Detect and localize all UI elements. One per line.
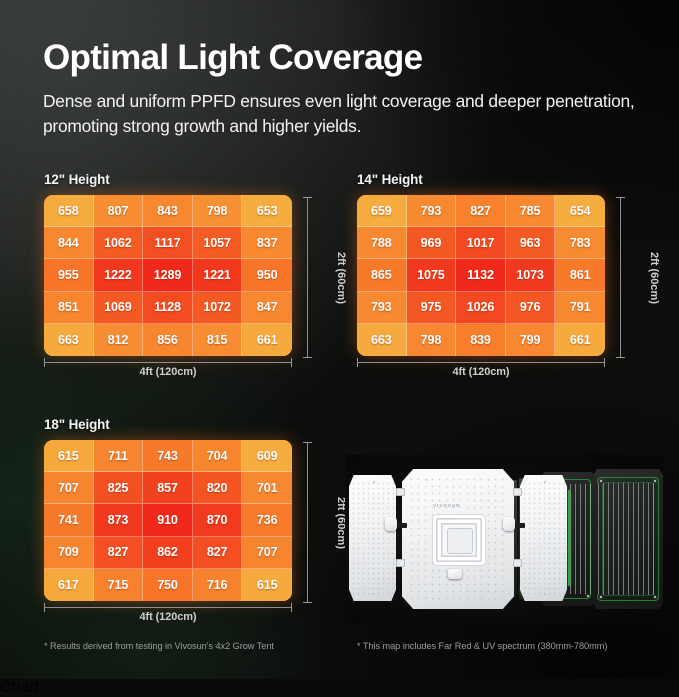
heatmap-cell: 870: [193, 504, 243, 536]
heatmap-cell: 975: [407, 292, 457, 324]
heatmap-cell: 615: [242, 569, 292, 601]
heatmap-cell: 1289: [143, 259, 193, 291]
height-dimension-18in: 2ft (60cm): [303, 442, 313, 603]
heatmap-cell-value: 976: [520, 300, 541, 314]
heatmap-cell-value: 653: [257, 204, 278, 218]
heatmap-cell: 815: [193, 324, 243, 356]
heatmap-grid-18in: 6157117437046097078258578207017418739108…: [44, 440, 292, 601]
product-knob-right: [503, 517, 515, 531]
heatmap-block-14in: 14" Height 65979382778565478896910179637…: [357, 172, 605, 356]
product-knob-left: [385, 517, 397, 531]
heatmap-cell: 851: [44, 292, 94, 324]
heatmap-cell-value: 798: [421, 333, 442, 347]
heatmap-cell: 743: [143, 440, 193, 472]
heatmap-cell: 707: [44, 472, 94, 504]
heatmap-cell: 856: [143, 324, 193, 356]
heatmap-cell-value: 862: [157, 545, 178, 559]
heatmap-label-14in: 14" Height: [357, 172, 605, 187]
heatmap-cell-value: 870: [207, 513, 228, 527]
heatmap-cell: 654: [555, 195, 605, 227]
heatmap-cell: 715: [94, 569, 144, 601]
heatmap-cell-value: 1117: [154, 236, 180, 250]
heatmap-cell-value: 1073: [516, 268, 543, 282]
heatmap-cell: 837: [242, 227, 292, 259]
heatmap-cell: 865: [357, 259, 407, 291]
product-center-led-module: [432, 514, 486, 566]
heatmap-cell-value: 1057: [203, 236, 230, 250]
heatmap-cell: 793: [407, 195, 457, 227]
heatmap-cell-value: 1128: [154, 300, 181, 314]
infographic-canvas: Optimal Light Coverage Dense and uniform…: [0, 0, 679, 679]
heatmap-cell-value: 837: [257, 236, 278, 250]
heatmap-cell-value: 815: [207, 333, 228, 347]
width-dimension-12in: 4ft (120cm): [44, 358, 292, 368]
height-dimension-12in: 2ft (60cm): [303, 197, 313, 358]
heatmap-cell-value: 617: [58, 578, 79, 592]
heatmap-cell-value: 736: [257, 513, 278, 527]
height-dimension-label-14in: 2ft (60cm): [648, 252, 660, 304]
heatmap-cell-value: 827: [470, 204, 491, 218]
heatmap-cell: 847: [242, 292, 292, 324]
product-bracket-tl: [396, 488, 405, 496]
heatmap-cell: 798: [193, 195, 243, 227]
heatmap-cell-value: 969: [421, 236, 442, 250]
heatmap-cell-value: 1072: [203, 300, 230, 314]
heatmap-cell-value: 873: [108, 513, 129, 527]
heatmap-cell-value: 707: [257, 545, 278, 559]
heatmap-cell: 812: [94, 324, 144, 356]
heatmap-cell-value: 1017: [467, 236, 494, 250]
heatmap-cell: 963: [506, 227, 556, 259]
heatmap-cell-value: 910: [157, 513, 178, 527]
heatmap-cell-value: 793: [371, 300, 392, 314]
heatmap-cell-value: 1062: [104, 236, 131, 250]
heatmap-cell-value: 1075: [417, 268, 444, 282]
product-center-connector: [448, 569, 462, 579]
heatmap-cell-value: 825: [108, 481, 129, 495]
heatmap-cell-value: 661: [257, 333, 278, 347]
heatmap-cell-value: 659: [371, 204, 392, 218]
product-bracket-tr: [513, 488, 522, 496]
heatmap-cell: 1075: [407, 259, 457, 291]
heatmap-cell-value: 807: [108, 204, 129, 218]
heatmap-cell: 793: [357, 292, 407, 324]
heatmap-cell-value: 788: [371, 236, 392, 250]
heatmap-cell: 807: [94, 195, 144, 227]
heatmap-cell-value: 1221: [203, 268, 230, 282]
heatmap-cell: 788: [357, 227, 407, 259]
heatmap-cell-value: 750: [157, 578, 178, 592]
heatmap-cell: 1128: [143, 292, 193, 324]
heatmap-cell: 1062: [94, 227, 144, 259]
heatmap-cell: 741: [44, 504, 94, 536]
heatmap-cell: 873: [94, 504, 144, 536]
heatmap-cell: 843: [143, 195, 193, 227]
heatmap-cell-value: 785: [520, 204, 541, 218]
heatmap-cell: 661: [242, 324, 292, 356]
footnote-left: * Results derived from testing in Vivosu…: [44, 641, 274, 651]
heatmap-cell-value: 963: [520, 236, 541, 250]
heatmap-cell: 839: [456, 324, 506, 356]
heatmap-cell: 707: [242, 537, 292, 569]
heatmap-cell: 1017: [456, 227, 506, 259]
heatmap-cell: 1222: [94, 259, 144, 291]
heatmap-cell: 653: [242, 195, 292, 227]
heatmap-cell-value: 798: [207, 204, 228, 218]
heatmap-cell-value: 663: [58, 333, 79, 347]
heatmap-cell-value: 793: [421, 204, 442, 218]
heatmap-cell: 827: [193, 537, 243, 569]
page-title: Optimal Light Coverage: [43, 38, 422, 77]
heatmap-cell: 861: [555, 259, 605, 291]
heatmap-cell: 976: [506, 292, 556, 324]
heatmap-cell: 857: [143, 472, 193, 504]
heatmap-cell-value: 654: [570, 204, 591, 218]
heatmap-cell-value: 741: [58, 513, 79, 527]
heatmap-cell-value: 615: [257, 578, 278, 592]
heatmap-cell: 798: [407, 324, 457, 356]
heatmap-cell: 1026: [456, 292, 506, 324]
heatmap-cell-value: 843: [157, 204, 178, 218]
heatmap-cell: 709: [44, 537, 94, 569]
heatmap-cell-value: 783: [570, 236, 591, 250]
heatmap-cell: 825: [94, 472, 144, 504]
heatmap-cell-value: 615: [58, 449, 79, 463]
product-bracket-bl: [396, 559, 405, 567]
page-subtitle: Dense and uniform PPFD ensures even ligh…: [43, 89, 643, 139]
heatmap-cell: 969: [407, 227, 457, 259]
heatmap-cell-value: 1026: [467, 300, 494, 314]
heatmap-grid-14in: 6597938277856547889691017963783865107511…: [357, 195, 605, 356]
heatmap-cell-value: 975: [421, 300, 442, 314]
led-dots-left: [351, 481, 393, 594]
heatmap-cell-value: 827: [108, 545, 129, 559]
heatmap-cell: 617: [44, 569, 94, 601]
heatmap-cell: 1073: [506, 259, 556, 291]
heatmap-cell-value: 861: [570, 268, 591, 282]
heatmap-cell-value: 847: [257, 300, 278, 314]
heatmap-block-18in: 18" Height 61571174370460970782585782070…: [44, 417, 292, 601]
heatmap-cell-value: 844: [58, 236, 79, 250]
heatmap-cell-value: 661: [570, 333, 591, 347]
product-rear-panel-right: [589, 469, 663, 609]
heatmap-cell: 663: [357, 324, 407, 356]
width-dimension-label-14in: 4ft (120cm): [357, 366, 605, 378]
heatmap-cell-value: 707: [58, 481, 79, 495]
heatmap-cell: 844: [44, 227, 94, 259]
heatmap-grid-12in: 6588078437986538441062111710578379551222…: [44, 195, 292, 356]
height-dimension-14in: 2ft (60cm): [616, 197, 626, 358]
heatmap-cell: 658: [44, 195, 94, 227]
heatmap-cell: 791: [555, 292, 605, 324]
heatmap-cell-value: 1289: [154, 268, 181, 282]
heatmap-cell-value: 955: [58, 268, 79, 282]
heatmap-cell-value: 799: [520, 333, 541, 347]
heatmap-cell-value: 711: [108, 449, 128, 463]
heatmap-cell-value: 857: [157, 481, 178, 495]
heatmap-cell: 827: [456, 195, 506, 227]
heatmap-cell: 950: [242, 259, 292, 291]
product-led-board-left: [349, 475, 396, 601]
heatmap-cell: 955: [44, 259, 94, 291]
heatmap-cell-value: 715: [108, 578, 129, 592]
heatmap-label-12in: 12" Height: [44, 172, 292, 187]
heatmap-cell: 615: [44, 440, 94, 472]
heatmap-cell: 1117: [143, 227, 193, 259]
heatmap-cell-value: 704: [207, 449, 228, 463]
heatmap-cell-value: 701: [257, 481, 278, 495]
heatmap-cell-value: 658: [58, 204, 79, 218]
led-dots-right: [522, 481, 564, 594]
heatmap-cell-value: 791: [570, 300, 591, 314]
width-dimension-label-18in: 4ft (120cm): [44, 611, 292, 623]
heatmap-cell: 661: [555, 324, 605, 356]
heatmap-cell: 750: [143, 569, 193, 601]
heatmap-cell-value: 663: [371, 333, 392, 347]
heatmap-cell: 704: [193, 440, 243, 472]
heatmap-block-12in: 12" Height 65880784379865384410621117105…: [44, 172, 292, 356]
heatmap-cell: 1132: [456, 259, 506, 291]
height-dimension-label-12in: 2ft (60cm): [335, 252, 347, 304]
heatmap-cell-value: 743: [157, 449, 178, 463]
heatmap-cell: 1057: [193, 227, 243, 259]
heatmap-cell: 820: [193, 472, 243, 504]
heatmap-label-18in: 18" Height: [44, 417, 292, 432]
heatmap-cell-value: 820: [207, 481, 228, 495]
product-photo: VIVOSUN: [345, 455, 663, 625]
heatmap-cell: 862: [143, 537, 193, 569]
heatmap-cell-value: 1069: [104, 300, 131, 314]
heatmap-cell: 711: [94, 440, 144, 472]
heatmap-cell-value: 1132: [467, 268, 494, 282]
heatmap-cell: 783: [555, 227, 605, 259]
heatmap-cell-value: 827: [207, 545, 228, 559]
heatmap-cell: 785: [506, 195, 556, 227]
heatmap-cell: 609: [242, 440, 292, 472]
product-brand-label: VIVOSUN: [433, 503, 460, 508]
heatmap-cell-value: 839: [470, 333, 491, 347]
heatmap-cell-value: 709: [58, 545, 79, 559]
heatmap-cell-value: 716: [207, 578, 228, 592]
heatmap-cell-value: 950: [257, 268, 278, 282]
heatmap-cell: 701: [242, 472, 292, 504]
heatmap-cell: 736: [242, 504, 292, 536]
width-dimension-14in: 4ft (120cm): [357, 358, 605, 368]
heatmap-cell: 663: [44, 324, 94, 356]
heatmap-cell-value: 851: [58, 300, 79, 314]
product-led-board-center: VIVOSUN: [402, 469, 514, 609]
width-dimension-label-12in: 4ft (120cm): [44, 366, 292, 378]
heatmap-cell-value: 812: [108, 333, 129, 347]
heatmap-cell: 1069: [94, 292, 144, 324]
width-dimension-18in: 4ft (120cm): [44, 603, 292, 613]
heatmap-cell: 1221: [193, 259, 243, 291]
heatmap-cell: 716: [193, 569, 243, 601]
footnote-right: * This map includes Far Red & UV spectru…: [357, 641, 607, 651]
heatmap-cell: 910: [143, 504, 193, 536]
heatmap-cell-value: 865: [371, 268, 392, 282]
heatmap-cell: 659: [357, 195, 407, 227]
product-bracket-br: [513, 559, 522, 567]
heatmap-cell: 1072: [193, 292, 243, 324]
heatmap-cell: 799: [506, 324, 556, 356]
product-led-board-right: [520, 475, 567, 601]
heatmap-cell: 827: [94, 537, 144, 569]
heatmap-cell-value: 856: [157, 333, 178, 347]
heatmap-cell-value: 1222: [104, 268, 131, 282]
heatmap-cell-value: 609: [257, 449, 278, 463]
